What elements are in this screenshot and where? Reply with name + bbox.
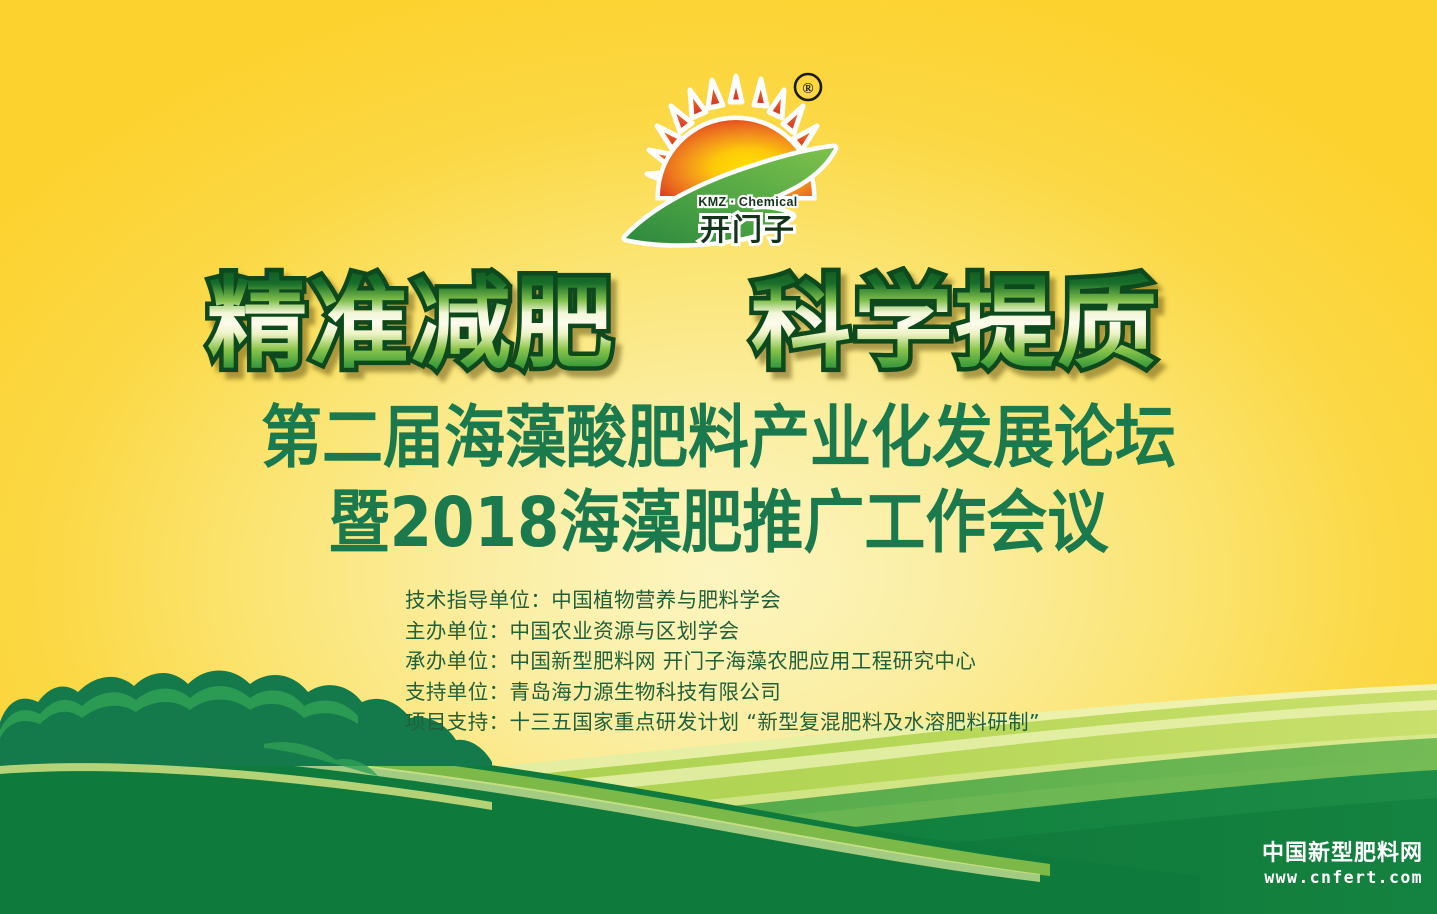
watermark-site-name: 中国新型肥料网 <box>1262 841 1423 867</box>
logo-brand-cn: 开门子 <box>700 213 796 248</box>
watermark-url: www.cnfert.com <box>1262 868 1423 888</box>
details-block: 技术指导单位：中国植物营养与肥料学会 主办单位：中国农业资源与区划学会 承办单位… <box>405 585 1265 738</box>
headline-part-2: 科学提质 <box>751 266 1159 382</box>
headline-part-1: 精准减肥 <box>207 266 615 382</box>
watermark: 中国新型肥料网 www.cnfert.com <box>1262 841 1423 888</box>
kmz-chemical-logo: ® KMZ · Chemical 开门子 <box>620 68 842 250</box>
poster-canvas: ® KMZ · Chemical 开门子 <box>0 0 1437 914</box>
registered-trademark-icon: ® <box>795 74 821 100</box>
detail-line-project-support: 项目支持：十三五国家重点研发计划 “新型复混肥料及水溶肥料研制” <box>405 707 1265 738</box>
registered-mark-glyph: ® <box>802 81 813 97</box>
headline: 精准减肥 科学提质 <box>0 266 1437 386</box>
detail-line-technical-guidance: 技术指导单位：中国植物营养与肥料学会 <box>405 585 1265 616</box>
detail-line-supporter: 支持单位：青岛海力源生物科技有限公司 <box>405 677 1265 708</box>
detail-line-co-organizer: 承办单位：中国新型肥料网 开门子海藻农肥应用工程研究中心 <box>405 646 1265 677</box>
subtitle-line-1: 第二届海藻酸肥料产业化发展论坛 <box>0 404 1437 472</box>
logo-brand-latin: KMZ · Chemical <box>698 195 797 209</box>
subtitle-block: 第二届海藻酸肥料产业化发展论坛 暨2018海藻肥推广工作会议 <box>0 404 1437 550</box>
subtitle-line-2: 暨2018海藻肥推广工作会议 <box>0 489 1437 557</box>
detail-line-organizer: 主办单位：中国农业资源与区划学会 <box>405 616 1265 647</box>
